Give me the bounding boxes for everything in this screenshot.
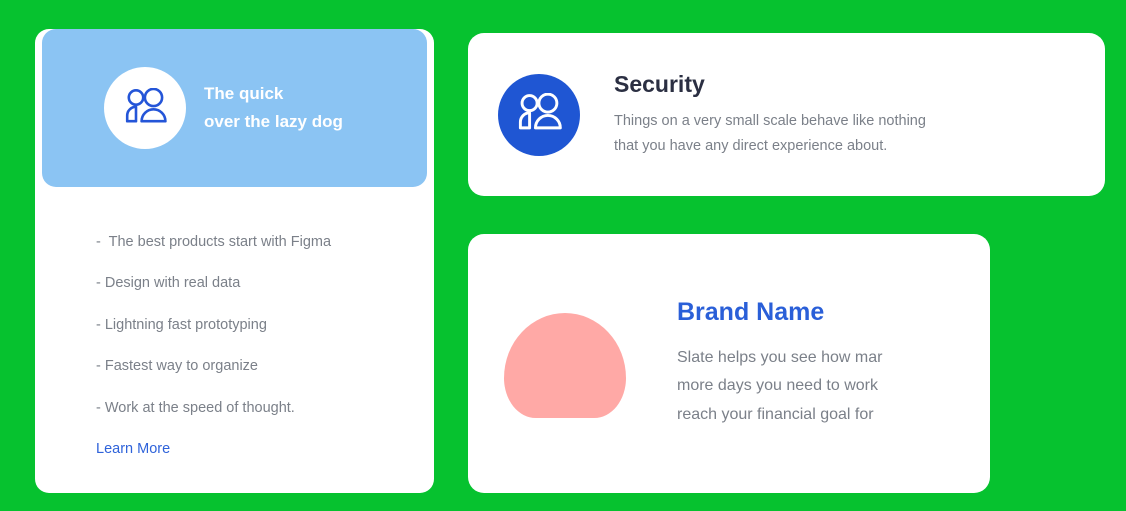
brand-card-text: Brand Name Slate helps you see how mar m… <box>677 298 882 429</box>
avatar <box>104 67 186 149</box>
security-card-description: Things on a very small scale behave like… <box>614 109 926 159</box>
security-card-title: Security <box>614 71 926 98</box>
security-card: Security Things on a very small scale be… <box>468 33 1105 196</box>
security-icon-badge <box>498 74 580 156</box>
learn-more-link[interactable]: Learn More <box>96 441 170 457</box>
brand-card: Brand Name Slate helps you see how mar m… <box>468 234 990 493</box>
security-card-text: Security Things on a very small scale be… <box>614 71 926 159</box>
dome-blob-shape <box>504 313 626 418</box>
list-item: - Lightning fast prototyping <box>96 314 400 337</box>
list-item: - Work at the speed of thought. <box>96 397 400 420</box>
brand-card-description: Slate helps you see how mar more days yo… <box>677 344 882 429</box>
feature-card-header: The quick over the lazy dog <box>42 29 427 187</box>
list-item: - Design with real data <box>96 272 400 295</box>
people-group-icon <box>516 93 562 136</box>
brand-card-title: Brand Name <box>677 298 882 327</box>
feature-card: The quick over the lazy dog - The best p… <box>35 29 434 493</box>
list-item: - The best products start with Figma <box>96 231 400 254</box>
list-item: - Fastest way to organize <box>96 355 400 378</box>
feature-card-body: - The best products start with Figma - D… <box>35 187 434 493</box>
people-group-icon <box>123 88 167 129</box>
feature-card-title: The quick over the lazy dog <box>204 80 343 135</box>
